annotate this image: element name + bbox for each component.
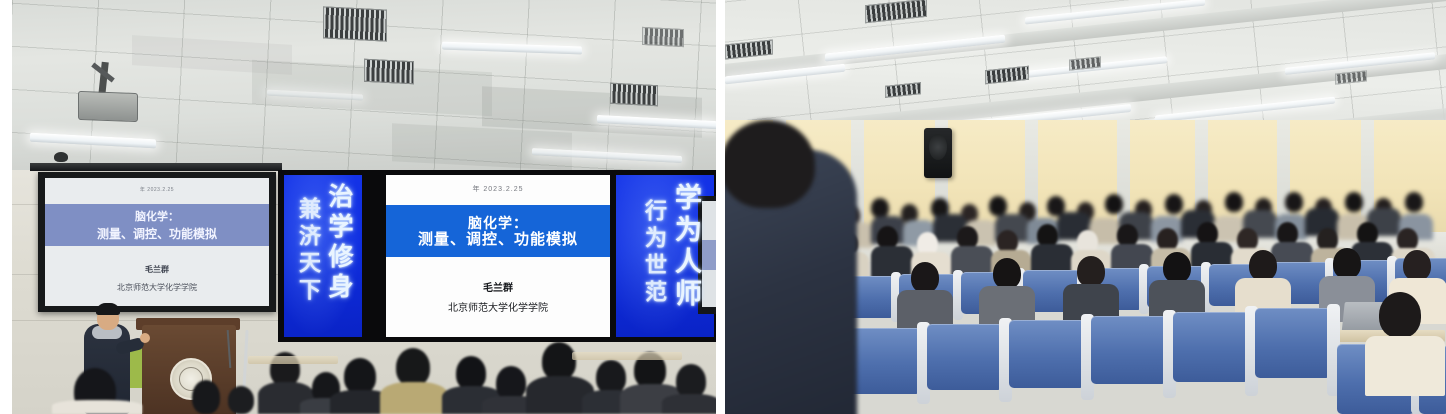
slide-title-band: 脑化学： 测量、调控、功能模拟 <box>386 205 610 257</box>
slide-title-line2: 测量、调控、功能模拟 <box>418 232 578 247</box>
calligraphy-banner-left: 治学修身 兼济天下 <box>284 175 362 337</box>
banner-text-jianji: 兼济天下 <box>292 197 324 305</box>
slide-title-line1-mirror: 脑化学： <box>135 208 179 224</box>
dome-camera-icon <box>54 152 68 162</box>
hvac-vent-icon <box>610 83 658 107</box>
banner-text-xingwei: 行为世范 <box>638 199 670 307</box>
slide-title-line2-mirror: 测量、调控、功能模拟 <box>97 225 217 242</box>
desk <box>572 352 682 360</box>
slide-speaker-name: 毛兰群 <box>386 279 610 294</box>
led-display-wall: 治学修身 兼济天下 年 2023.2.25 脑化学： 测量、调控、功能模拟 毛兰… <box>278 170 716 342</box>
slide-title-band-mirror: 脑化学： 测量、调控、功能模拟 <box>45 204 269 246</box>
audience-photo <box>725 0 1446 414</box>
projection-surface: 年 2023.2.25 脑化学： 测量、调控、功能模拟 毛兰群 北京师范大学化学… <box>45 178 269 306</box>
lecture-stage-photo: 年 2023.2.25 脑化学： 测量、调控、功能模拟 毛兰群 北京师范大学化学… <box>12 0 716 414</box>
desk <box>248 356 338 364</box>
presentation-slide: 年 2023.2.25 脑化学： 测量、调控、功能模拟 毛兰群 北京师范大学化学… <box>386 175 610 337</box>
banner-text-zhixue: 治学修身 <box>320 183 356 303</box>
ceiling-projector <box>78 91 138 122</box>
slide-title-line1: 脑化学： <box>468 216 528 230</box>
slide-speaker-mirror: 毛兰群 <box>45 264 269 275</box>
ceiling <box>12 0 716 176</box>
slide-date-mirror: 年 2023.2.25 <box>45 186 269 193</box>
hvac-vent-icon <box>364 59 414 85</box>
presenter-hair <box>96 303 120 315</box>
slide-affiliation: 北京师范大学化学学院 <box>386 299 610 314</box>
photo-composite: 年 2023.2.25 脑化学： 测量、调控、功能模拟 毛兰群 北京师范大学化学… <box>0 0 1446 414</box>
presenter-hand <box>140 333 150 343</box>
blurred-foreground-head <box>725 120 815 208</box>
wall-speaker-icon <box>924 128 952 178</box>
slide-date: 年 2023.2.25 <box>386 184 610 194</box>
slide-affiliation-mirror: 北京师范大学化学学院 <box>45 282 269 293</box>
banner-text-xuewei: 学为人师 <box>667 183 706 311</box>
hvac-vent-icon <box>642 27 684 47</box>
screen-roller-casing <box>30 163 282 171</box>
hvac-vent-icon <box>323 6 387 41</box>
fabric-projection-screen: 年 2023.2.25 脑化学： 测量、调控、功能模拟 毛兰群 北京师范大学化学… <box>38 172 276 312</box>
